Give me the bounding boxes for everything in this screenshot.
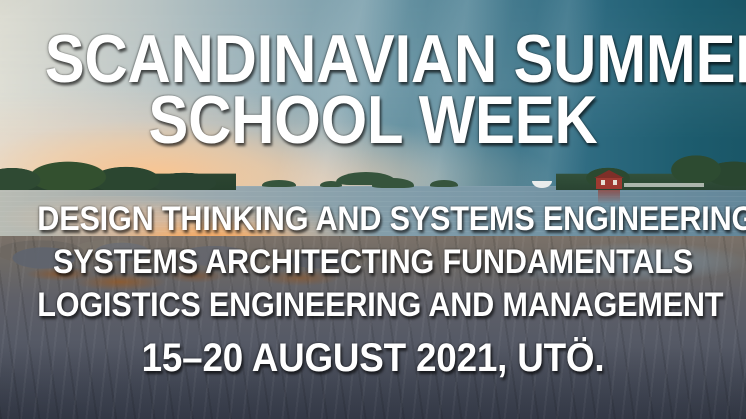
event-poster: SCANDINAVIAN SUMMER SCHOOL WEEK DESIGN T… [0, 0, 746, 419]
poster-title-line-2: SCHOOL WEEK [45, 86, 701, 154]
course-title-systems-architecting: SYSTEMS ARCHITECTING FUNDAMENTALS [37, 245, 708, 279]
event-date-location: 15–20 AUGUST 2021, UTÖ. [30, 338, 716, 378]
course-title-logistics-engineering: LOGISTICS ENGINEERING AND MANAGEMENT [37, 288, 708, 322]
poster-text: SCANDINAVIAN SUMMER SCHOOL WEEK DESIGN T… [0, 0, 746, 419]
course-title-design-thinking: DESIGN THINKING AND SYSTEMS ENGINEERING [37, 202, 708, 236]
